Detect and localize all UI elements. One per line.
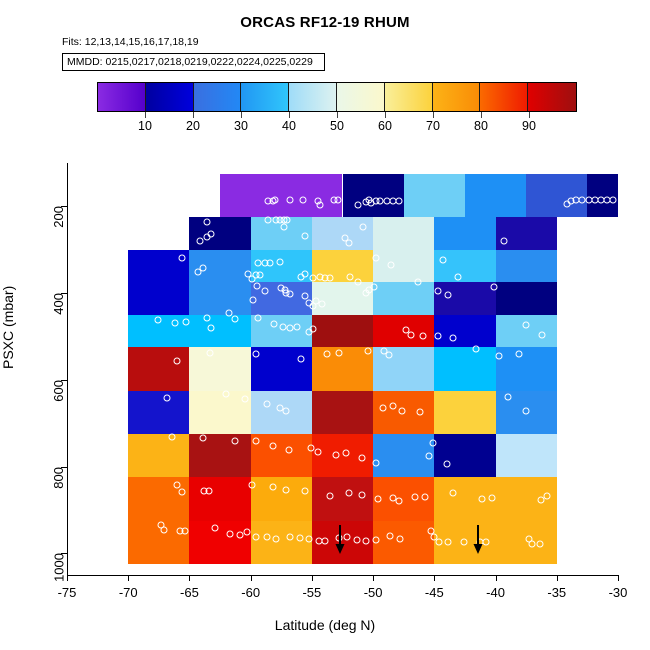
heatmap-cell [189, 315, 250, 348]
heatmap-cell [189, 282, 250, 315]
data-point [354, 537, 361, 544]
data-point [449, 489, 456, 496]
data-point [285, 447, 292, 454]
colorbar-segment [433, 83, 481, 111]
colorbar-segment [385, 83, 433, 111]
x-axis-tick [373, 575, 374, 581]
x-axis-tick [251, 575, 252, 581]
data-point [610, 197, 617, 204]
arrow-marker-1 [335, 525, 346, 555]
data-point [386, 351, 393, 358]
data-point [449, 334, 456, 341]
heatmap-cell [496, 282, 557, 315]
data-point [543, 493, 550, 500]
x-axis-tick [434, 575, 435, 581]
colorbar-segment [528, 83, 576, 111]
data-point [283, 487, 290, 494]
x-axis-tick [618, 575, 619, 581]
heatmap-cell [251, 521, 312, 564]
colorbar-tick-label: 50 [330, 119, 344, 133]
data-point [536, 540, 543, 547]
mmdd-label: MMDD: 0215,0217,0218,0219,0222,0224,0225… [63, 56, 313, 68]
data-point [346, 273, 353, 280]
data-point [269, 442, 276, 449]
data-point [460, 539, 467, 546]
data-point [197, 238, 204, 245]
data-point [387, 532, 394, 539]
y-axis-tick-label: 600 [52, 380, 67, 402]
heatmap-cell [251, 477, 312, 520]
data-point [395, 497, 402, 504]
heatmap-cell [465, 174, 526, 217]
data-point [335, 349, 342, 356]
data-point [343, 450, 350, 457]
data-point [181, 527, 188, 534]
data-point [375, 495, 382, 502]
data-point [264, 217, 271, 224]
data-point [286, 325, 293, 332]
colorbar: 102030405060708090 [97, 82, 577, 112]
heatmap-cell [434, 315, 495, 348]
colorbar-tick [241, 112, 242, 118]
data-point [223, 390, 230, 397]
data-point [248, 275, 255, 282]
data-point [206, 487, 213, 494]
y-axis-tick-label: 800 [52, 467, 67, 489]
data-point [323, 351, 330, 358]
data-point [372, 255, 379, 262]
data-point [179, 488, 186, 495]
heatmap-cell [189, 477, 250, 520]
arrow-marker-2 [473, 525, 484, 555]
data-point [226, 530, 233, 537]
data-point [257, 272, 264, 279]
data-point [255, 315, 262, 322]
data-point [212, 524, 219, 531]
heatmap-cell [373, 250, 434, 283]
data-point [435, 287, 442, 294]
data-point [333, 452, 340, 459]
heatmap-cell [373, 217, 434, 250]
x-axis-tick-label: -45 [425, 585, 444, 600]
data-point [312, 298, 319, 305]
colorbar-tick-label: 60 [378, 119, 392, 133]
data-point [334, 197, 341, 204]
data-point [539, 332, 546, 339]
colorbar-gradient [97, 82, 577, 112]
colorbar-segment [480, 83, 528, 111]
data-point [444, 539, 451, 546]
heatmap-cell [434, 477, 495, 520]
data-point [420, 333, 427, 340]
data-point [379, 405, 386, 412]
data-point [355, 202, 362, 209]
heatmap-cell [128, 282, 189, 315]
data-point [179, 254, 186, 261]
heatmap-cell [251, 391, 312, 434]
data-point [174, 357, 181, 364]
colorbar-tick [193, 112, 194, 118]
data-point [253, 282, 260, 289]
heatmap-cell [404, 174, 465, 217]
data-point [252, 533, 259, 540]
data-point [255, 260, 262, 267]
data-point [280, 224, 287, 231]
data-point [252, 438, 259, 445]
heatmap-cell [373, 282, 434, 315]
data-point [294, 323, 301, 330]
data-point [345, 240, 352, 247]
colorbar-segment [98, 83, 146, 111]
colorbar-segment [194, 83, 242, 111]
heatmap-cell [189, 434, 250, 477]
data-point [496, 353, 503, 360]
data-point [301, 232, 308, 239]
colorbar-tick-label: 70 [426, 119, 440, 133]
colorbar-tick-label: 40 [282, 119, 296, 133]
data-point [399, 408, 406, 415]
heatmap-cell [128, 347, 189, 390]
data-point [444, 292, 451, 299]
data-point [269, 484, 276, 491]
data-point [529, 540, 536, 547]
x-axis-tick [312, 575, 313, 581]
y-axis-tick-label: 1000 [52, 553, 67, 582]
data-point [411, 493, 418, 500]
heatmap-cell [496, 521, 557, 564]
y-axis-tick-label: 200 [52, 206, 67, 228]
heatmap-cell [496, 315, 557, 348]
x-axis-tick-label: -35 [547, 585, 566, 600]
x-axis-title: Latitude (deg N) [0, 617, 650, 633]
heatmap-cell [434, 282, 495, 315]
data-point [372, 459, 379, 466]
heatmap-cell [526, 174, 587, 217]
data-point [327, 492, 334, 499]
heatmap-cell [496, 434, 557, 477]
data-point [248, 481, 255, 488]
x-axis-tick-label: -50 [364, 585, 383, 600]
x-axis-tick-label: -70 [119, 585, 138, 600]
x-axis-line [67, 575, 618, 576]
data-point [439, 256, 446, 263]
data-point [523, 408, 530, 415]
data-point [454, 274, 461, 281]
colorbar-tick [337, 112, 338, 118]
data-point [286, 197, 293, 204]
data-point [263, 401, 270, 408]
data-point [241, 396, 248, 403]
data-point [389, 403, 396, 410]
colorbar-tick [481, 112, 482, 118]
data-point [297, 274, 304, 281]
colorbar-tick [529, 112, 530, 118]
data-point [355, 279, 362, 286]
data-point [208, 324, 215, 331]
plot-root: ORCAS RF12-19 RHUM Fits: 12,13,14,15,16,… [0, 0, 650, 650]
data-point [310, 274, 317, 281]
data-point [479, 496, 486, 503]
data-point [164, 394, 171, 401]
data-point [436, 539, 443, 546]
data-point [243, 529, 250, 536]
x-axis-tick [128, 575, 129, 581]
data-point [154, 317, 161, 324]
heatmap-cell [189, 347, 250, 390]
x-axis-tick-label: -40 [486, 585, 505, 600]
x-axis-tick [557, 575, 558, 581]
data-point [362, 538, 369, 545]
heatmap-cell [220, 174, 342, 217]
data-point [408, 331, 415, 338]
heatmap-cell [434, 434, 495, 477]
heatmap-cell [312, 347, 373, 390]
x-axis-tick-label: -55 [302, 585, 321, 600]
colorbar-tick [145, 112, 146, 118]
data-point [297, 355, 304, 362]
heatmap-cell [434, 217, 495, 250]
x-axis-tick [189, 575, 190, 581]
x-axis-tick [496, 575, 497, 581]
data-point [273, 536, 280, 543]
heatmap-cell [373, 521, 434, 564]
data-point [327, 274, 334, 281]
data-point [504, 394, 511, 401]
data-point [252, 350, 259, 357]
data-point [283, 408, 290, 415]
data-point [491, 283, 498, 290]
x-axis-tick [67, 575, 68, 581]
colorbar-tick-label: 10 [138, 119, 152, 133]
data-point [318, 301, 325, 308]
data-point [388, 262, 395, 269]
x-axis-tick-label: -65 [180, 585, 199, 600]
heatmap-cell [312, 282, 373, 315]
data-point [306, 536, 313, 543]
heatmap-cell [434, 250, 495, 283]
data-point [273, 216, 280, 223]
data-point [563, 200, 570, 207]
colorbar-segment [289, 83, 337, 111]
data-point [262, 288, 269, 295]
data-point [421, 493, 428, 500]
data-point [286, 534, 293, 541]
heatmap-cell [434, 347, 495, 390]
data-point [360, 223, 367, 230]
data-point [231, 437, 238, 444]
data-point [195, 269, 202, 276]
data-point [310, 326, 317, 333]
colorbar-tick [433, 112, 434, 118]
colorbar-segment [146, 83, 194, 111]
heatmap-cell [251, 347, 312, 390]
data-point [435, 333, 442, 340]
data-point [199, 435, 206, 442]
data-point [277, 259, 284, 266]
data-point [362, 289, 369, 296]
data-point [322, 538, 329, 545]
data-point [203, 219, 210, 226]
heatmap-cell [189, 521, 250, 564]
mmdd-box: MMDD: 0215,0217,0218,0219,0222,0224,0225… [62, 53, 325, 71]
data-point [430, 439, 437, 446]
data-point [359, 492, 366, 499]
data-point [488, 494, 495, 501]
data-point [301, 293, 308, 300]
heatmap-plot [67, 163, 618, 575]
data-point [301, 487, 308, 494]
heatmap-cell [343, 174, 404, 217]
data-point [182, 318, 189, 325]
data-point [443, 461, 450, 468]
data-point [236, 532, 243, 539]
data-point [315, 448, 322, 455]
data-point [279, 323, 286, 330]
data-point [345, 490, 352, 497]
data-point [515, 351, 522, 358]
data-point [472, 345, 479, 352]
heatmap-cell [128, 391, 189, 434]
x-axis-tick-label: -75 [58, 585, 77, 600]
data-point [203, 314, 210, 321]
data-point [537, 496, 544, 503]
data-point [395, 198, 402, 205]
heatmap-cell [312, 391, 373, 434]
colorbar-segment [241, 83, 289, 111]
heatmap-cell [312, 217, 373, 250]
data-point [359, 455, 366, 462]
data-point [286, 290, 293, 297]
x-axis-tick-label: -30 [609, 585, 628, 600]
data-point [416, 409, 423, 416]
data-point [523, 322, 530, 329]
data-point [160, 527, 167, 534]
colorbar-tick-label: 80 [474, 119, 488, 133]
heatmap-cell [496, 347, 557, 390]
colorbar-tick [385, 112, 386, 118]
heatmap-cell [496, 250, 557, 283]
y-axis-tick-label: 400 [52, 293, 67, 315]
data-point [169, 434, 176, 441]
heatmap-cell [312, 477, 373, 520]
data-point [267, 260, 274, 267]
colorbar-tick-label: 90 [522, 119, 536, 133]
data-point [426, 452, 433, 459]
data-point [231, 315, 238, 322]
colorbar-tick [289, 112, 290, 118]
y-axis-line [67, 163, 68, 575]
page-title: ORCAS RF12-19 RHUM [0, 14, 650, 31]
colorbar-tick-label: 30 [234, 119, 248, 133]
data-point [263, 533, 270, 540]
heatmap-cell [312, 315, 373, 348]
colorbar-tick-label: 20 [186, 119, 200, 133]
data-point [397, 536, 404, 543]
heatmap-cell [434, 391, 495, 434]
data-point [207, 349, 214, 356]
data-point [250, 296, 257, 303]
heatmap-cell [587, 174, 618, 217]
y-axis-title: PSXC (mbar) [0, 286, 16, 369]
x-axis-tick-label: -60 [241, 585, 260, 600]
data-point [270, 321, 277, 328]
data-point [317, 202, 324, 209]
heatmap-cell [251, 434, 312, 477]
fits-label: Fits: 12,13,14,15,16,17,18,19 [62, 36, 199, 48]
colorbar-segment [337, 83, 385, 111]
data-point [300, 197, 307, 204]
data-point [307, 444, 314, 451]
data-point [171, 320, 178, 327]
data-point [415, 278, 422, 285]
heatmap-cell [128, 434, 189, 477]
data-point [365, 347, 372, 354]
data-point [501, 238, 508, 245]
data-point [272, 197, 279, 204]
data-point [372, 536, 379, 543]
data-point [203, 233, 210, 240]
data-point [296, 535, 303, 542]
